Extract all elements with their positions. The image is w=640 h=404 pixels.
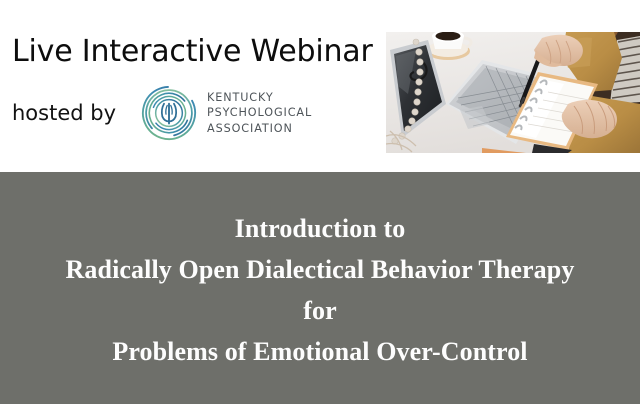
desk-laptop-notebook-photo bbox=[386, 32, 640, 153]
webinar-promo-slide: Live Interactive Webinar hosted by bbox=[0, 0, 640, 404]
kpa-psi-circles-emblem bbox=[140, 84, 198, 142]
header-band: Live Interactive Webinar hosted by bbox=[0, 0, 640, 172]
title-line-3: for bbox=[303, 290, 337, 331]
kpa-wordmark-line-2: PSYCHOLOGICAL bbox=[207, 105, 312, 121]
kpa-logo: KENTUCKY PSYCHOLOGICAL ASSOCIATION bbox=[140, 84, 312, 142]
page-title: Live Interactive Webinar bbox=[12, 34, 373, 69]
title-line-1: Introduction to bbox=[235, 208, 406, 249]
hosted-by-label: hosted by bbox=[12, 101, 116, 125]
title-panel: Introduction to Radically Open Dialectic… bbox=[0, 172, 640, 404]
kpa-wordmark: KENTUCKY PSYCHOLOGICAL ASSOCIATION bbox=[207, 90, 312, 137]
title-line-4: Problems of Emotional Over-Control bbox=[112, 331, 527, 372]
kpa-wordmark-line-1: KENTUCKY bbox=[207, 90, 312, 106]
hosted-by-row: hosted by bbox=[12, 84, 312, 142]
title-line-2: Radically Open Dialectical Behavior Ther… bbox=[66, 249, 575, 290]
kpa-wordmark-line-3: ASSOCIATION bbox=[207, 121, 312, 137]
